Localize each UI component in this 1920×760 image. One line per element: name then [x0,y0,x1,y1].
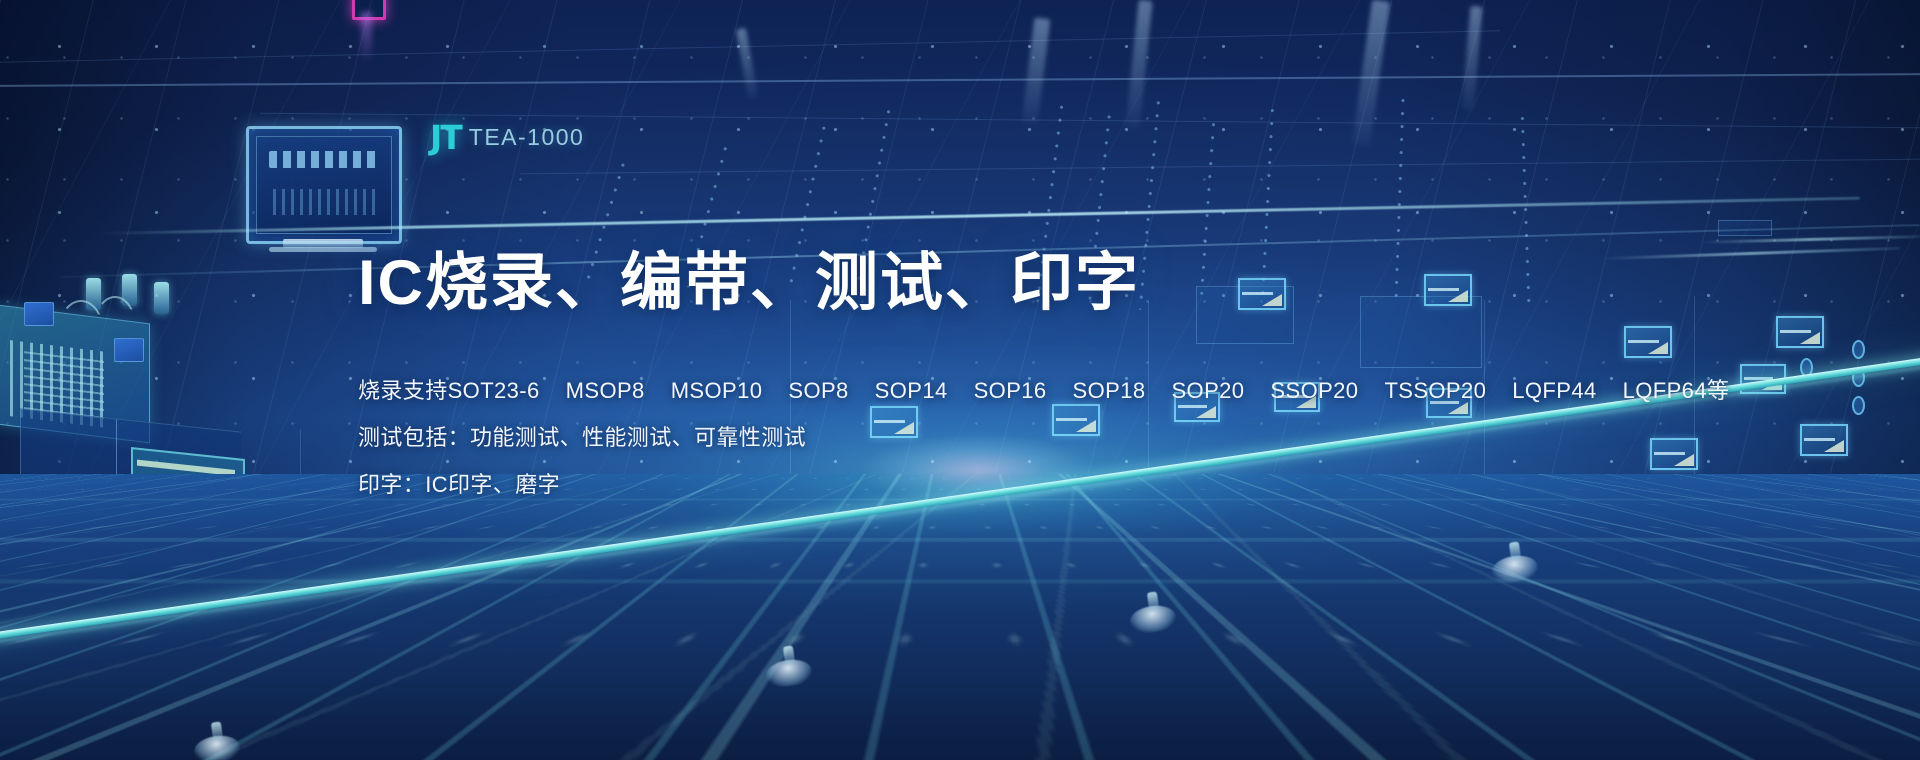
package-item: TSSOP20 [1384,378,1486,403]
banner-content: IC烧录、编带、测试、印字 烧录支持SOT23-6MSOP8MSOP10SOP8… [358,252,1698,508]
package-item: LQFP64等 [1623,378,1730,403]
package-item: SOP14 [875,378,948,403]
service-detail-list: 烧录支持SOT23-6MSOP8MSOP10SOP8SOP14SOP16SOP1… [358,367,1698,508]
package-item: LQFP44 [1512,378,1596,403]
package-item: SOP18 [1073,378,1146,403]
package-item: MSOP8 [566,378,645,403]
list-item-testing: 测试包括：功能测试、性能测试、可靠性测试 [358,414,1698,461]
machine-brand-logo: JT TEA-1000 [430,118,584,157]
logo-mark: JT [430,118,461,157]
package-item: SOP8 [788,378,848,403]
logo-model-number: TEA-1000 [469,124,585,151]
list-item-marking: 印字：IC印字、磨字 [358,461,1698,508]
burning-prefix-label: 烧录支持 [358,378,448,403]
package-item: SOT23-6 [448,378,540,403]
ic-service-banner: JT TEA-1000 IC烧录、编带、测试、印字 烧录支持SOT23-6MSO… [0,0,1920,760]
package-item: SSOP20 [1270,378,1358,403]
package-item: MSOP10 [671,378,763,403]
page-title: IC烧录、编带、测试、印字 [358,252,1698,315]
package-item: SOP16 [974,378,1047,403]
list-item-burning: 烧录支持SOT23-6MSOP8MSOP10SOP8SOP14SOP16SOP1… [358,367,1698,414]
package-item: SOP20 [1171,378,1244,403]
package-list: SOT23-6MSOP8MSOP10SOP8SOP14SOP16SOP18SOP… [448,367,1730,414]
